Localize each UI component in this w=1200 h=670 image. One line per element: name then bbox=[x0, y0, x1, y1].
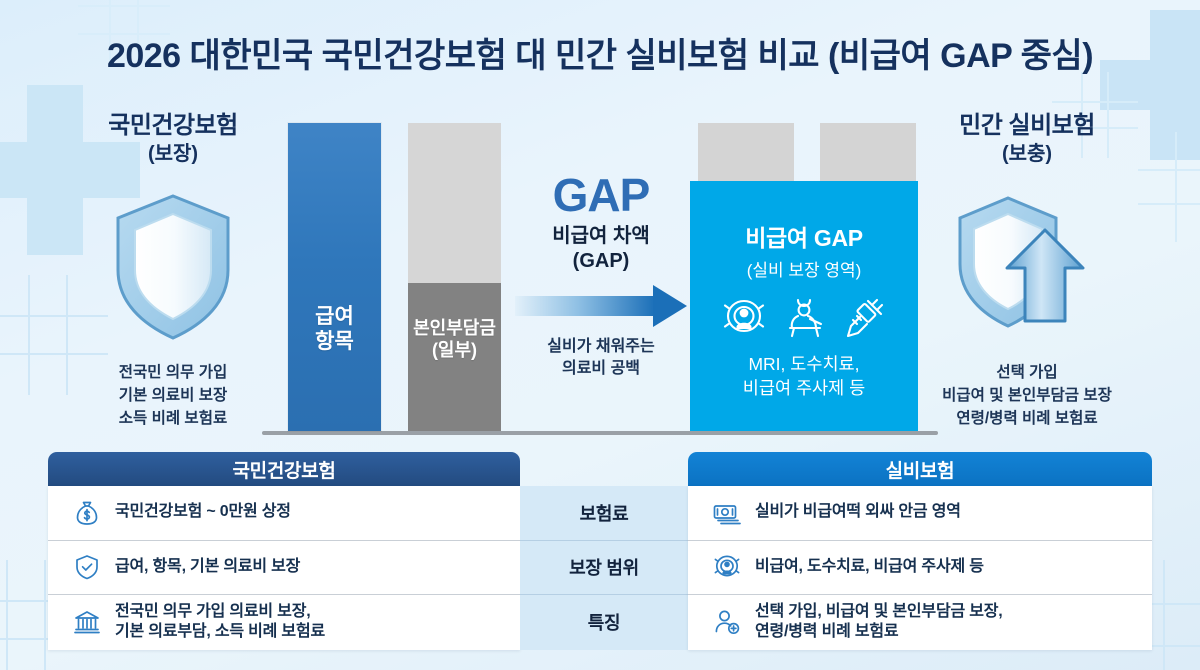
bar-copayment: 본인부담금 (일부) bbox=[408, 123, 501, 431]
page-title-text: 2026 대한민국 국민건강보험 대 민간 실비보험 비교 (비급여 GAP 중… bbox=[107, 28, 1093, 77]
chart-baseline bbox=[262, 431, 938, 435]
table-body-criteria: 보험료 보장 범위 특징 bbox=[520, 486, 688, 650]
person-add-icon bbox=[712, 607, 742, 637]
cyan-block-icon-row bbox=[690, 295, 918, 341]
bar-benefit-label: 급여 항목 bbox=[315, 305, 354, 355]
arrow-shaft bbox=[515, 296, 655, 316]
bar-gap-uncovered-cap-left bbox=[698, 123, 794, 181]
table-cell-text: 급여, 항목, 기본 의료비 보장 bbox=[115, 557, 300, 578]
comparison-table: 국민건강보험 국민건강보험 ~ 0만원 상정 bbox=[48, 452, 1152, 650]
gap-word-label: GAP bbox=[512, 172, 690, 218]
table-row: 보장 범위 bbox=[520, 541, 688, 596]
table-row[interactable]: 전국민 의무 가입 의료비 보장, 기본 의료부담, 소득 비례 보험료 bbox=[48, 595, 520, 650]
table-row[interactable]: 선택 가입, 비급여 및 본인부담금 보장, 연령/병력 비례 보험료 bbox=[688, 595, 1152, 650]
table-header-national: 국민건강보험 bbox=[48, 452, 520, 486]
cyan-block-title: 비급여 GAP bbox=[690, 219, 918, 253]
bar-gap-uncovered-cap-right bbox=[820, 123, 916, 181]
table-body-private: 실비가 비급여떡 외싸 안금 영역 비급여, 도수치료, 비급여 주사제 등 bbox=[688, 486, 1152, 650]
cyan-block-caption: MRI, 도수치료, 비급여 주사제 등 bbox=[690, 353, 918, 400]
mri-icon bbox=[721, 295, 767, 341]
table-cell-text: 전국민 의무 가입 의료비 보장, 기본 의료부담, 소득 비례 보험료 bbox=[115, 602, 325, 644]
banknotes-icon bbox=[712, 498, 742, 528]
table-row[interactable]: 실비가 비급여떡 외싸 안금 영역 bbox=[688, 486, 1152, 541]
criteria-label: 보장 범위 bbox=[569, 554, 639, 580]
table-column-national: 국민건강보험 국민건강보험 ~ 0만원 상정 bbox=[48, 452, 520, 650]
table-cell-text: 실비가 비급여떡 외싸 안금 영역 bbox=[755, 502, 961, 523]
bar-copay-uncovered-segment bbox=[408, 123, 501, 283]
table-row[interactable]: 국민건강보험 ~ 0만원 상정 bbox=[48, 486, 520, 541]
table-cell-text: 선택 가입, 비급여 및 본인부담금 보장, 연령/병력 비례 보험료 bbox=[755, 602, 1003, 644]
cyan-block-subtitle: (실비 보장 영역) bbox=[690, 256, 918, 281]
table-column-criteria: 보험료 보장 범위 특징 bbox=[520, 452, 688, 650]
bank-icon bbox=[72, 607, 102, 637]
bar-non-covered-gap: 비급여 GAP (실비 보장 영역) bbox=[690, 181, 918, 431]
gap-subtitle: 비급여 차액 (GAP) bbox=[512, 224, 690, 274]
infographic-canvas: 2026 대한민국 국민건강보험 대 민간 실비보험 비교 (비급여 GAP 중… bbox=[0, 0, 1200, 670]
table-row[interactable]: 급여, 항목, 기본 의료비 보장 bbox=[48, 541, 520, 596]
bar-benefit-items: 급여 항목 bbox=[288, 123, 381, 431]
gap-callout: GAP 비급여 차액 (GAP) 실비가 채워주는 의료비 공백 bbox=[512, 172, 690, 380]
gap-note: 실비가 채워주는 의료비 공백 bbox=[512, 336, 690, 380]
page-title: 2026 대한민국 국민건강보험 대 민간 실비보험 비교 (비급여 GAP 중… bbox=[0, 28, 1200, 77]
mri-icon bbox=[712, 552, 742, 582]
manual-therapy-icon bbox=[780, 295, 828, 341]
table-row: 특징 bbox=[520, 595, 688, 650]
table-header-spacer bbox=[520, 452, 688, 486]
criteria-label: 보험료 bbox=[580, 500, 629, 526]
syringe-icon bbox=[841, 295, 887, 341]
shield-check-icon bbox=[72, 552, 102, 582]
table-cell-text: 비급여, 도수치료, 비급여 주사제 등 bbox=[755, 557, 984, 578]
right-arrow-icon bbox=[515, 285, 687, 327]
table-header-private: 실비보험 bbox=[688, 452, 1152, 486]
table-row[interactable]: 비급여, 도수치료, 비급여 주사제 등 bbox=[688, 541, 1152, 596]
table-cell-text: 국민건강보험 ~ 0만원 상정 bbox=[115, 502, 291, 523]
money-bag-icon bbox=[72, 498, 102, 528]
criteria-label: 특징 bbox=[588, 609, 621, 635]
table-body-national: 국민건강보험 ~ 0만원 상정 급여, 항목, 기본 의료비 보장 bbox=[48, 486, 520, 650]
table-column-private: 실비보험 실비가 비급여떡 외싸 안금 영역 bbox=[688, 452, 1152, 650]
gap-bar-chart: 급여 항목 본인부담금 (일부) GAP 비급여 차액 (GAP) 실비가 채워… bbox=[250, 110, 950, 435]
arrow-head bbox=[653, 285, 687, 327]
table-row: 보험료 bbox=[520, 486, 688, 541]
bar-copay-label: 본인부담금 (일부) bbox=[408, 318, 501, 361]
